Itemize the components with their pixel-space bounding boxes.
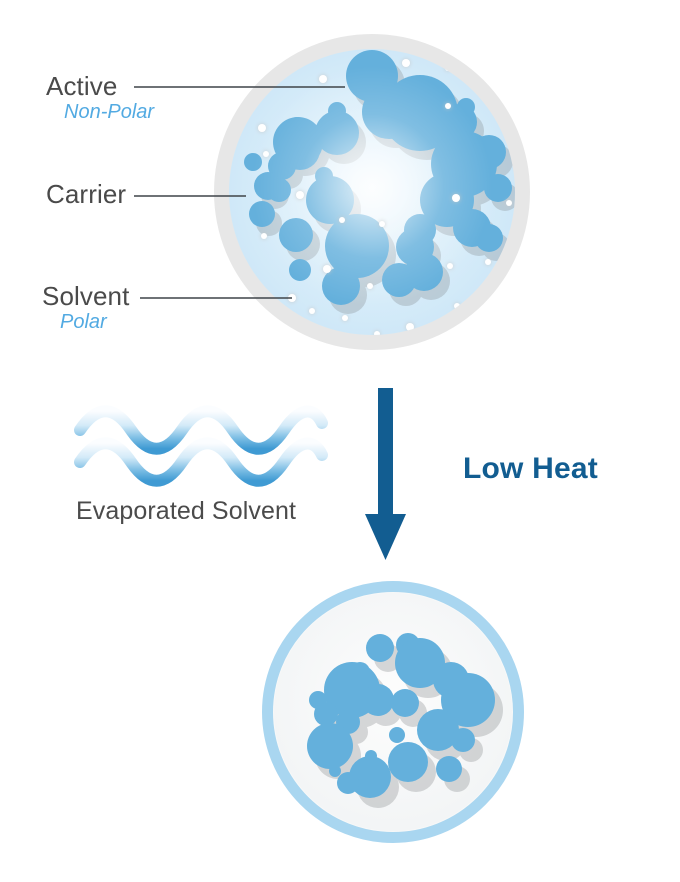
solvent-dot	[309, 308, 315, 314]
particle	[329, 765, 341, 777]
solvent-dot	[339, 217, 345, 223]
solvent-dot	[323, 265, 331, 273]
callout-active: Active Non-Polar	[46, 73, 154, 123]
callout-solvent-subtitle: Polar	[42, 312, 129, 333]
low-heat-label: Low Heat	[463, 452, 598, 486]
particle	[451, 728, 475, 752]
diagram-graphics	[0, 0, 680, 882]
callout-active-title: Active	[46, 73, 154, 100]
particle	[366, 634, 394, 662]
solvent-dot	[258, 124, 266, 132]
center-highlight	[229, 49, 515, 335]
particle	[337, 772, 359, 794]
diagram-root: Active Non-Polar Carrier Solvent Polar E…	[0, 0, 680, 882]
solvent-dot	[452, 194, 460, 202]
solvent-dot	[342, 315, 348, 321]
callout-active-subtitle: Non-Polar	[46, 102, 154, 123]
particle	[309, 691, 327, 709]
solvent-dot	[261, 233, 267, 239]
callout-carrier: Carrier	[46, 181, 126, 208]
coalesced-circle	[267, 586, 519, 838]
callout-solvent-title: Solvent	[42, 283, 129, 310]
solvent-dot	[402, 59, 410, 67]
solvent-dot	[379, 221, 385, 227]
evaporated-solvent-label: Evaporated Solvent	[76, 497, 296, 526]
low-heat-arrow	[365, 388, 406, 560]
solvent-dot	[296, 191, 304, 199]
particle	[436, 756, 462, 782]
solvent-dot	[485, 259, 491, 265]
particle	[362, 684, 394, 716]
particle	[307, 723, 353, 769]
solvent-dot	[506, 200, 512, 206]
wave-line-bottom	[80, 443, 322, 481]
arrow-down-icon	[365, 388, 406, 560]
solvent-dot	[319, 75, 327, 83]
dispersion-circle	[214, 34, 530, 350]
solvent-dot	[263, 151, 269, 157]
solvent-dot	[445, 103, 451, 109]
callout-solvent: Solvent Polar	[42, 283, 129, 333]
particle	[388, 742, 428, 782]
callout-carrier-title: Carrier	[46, 181, 126, 208]
solvent-dot	[367, 283, 373, 289]
particle	[389, 727, 405, 743]
particle	[391, 689, 419, 717]
evaporated-solvent-waves	[80, 411, 322, 481]
solvent-dot	[447, 263, 453, 269]
